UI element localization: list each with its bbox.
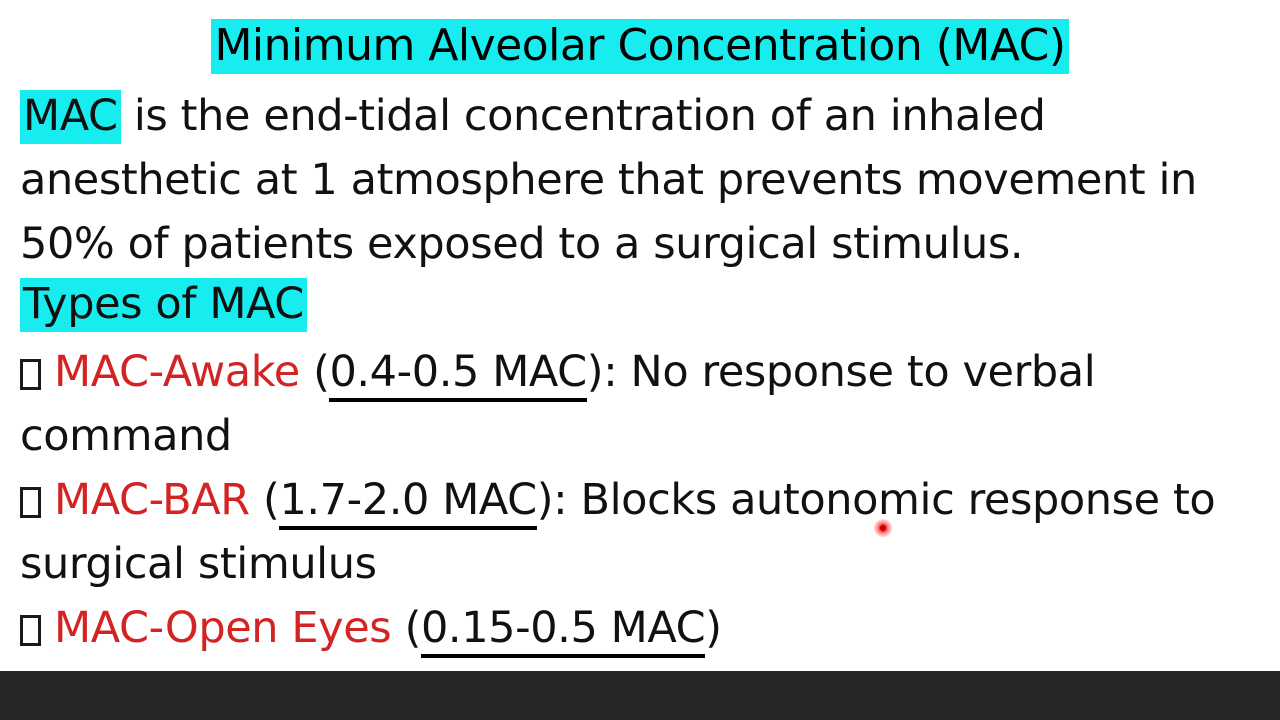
slide-content-area: Minimum Alveolar Concentration (MAC) MAC… [0, 0, 1280, 671]
list-item-name: MAC-BAR [54, 475, 250, 525]
list-item-close-paren: ) [705, 603, 721, 653]
list-item-open-paren: ( [263, 475, 279, 525]
list-item: MAC-Open Eyes (0.15-0.5 MAC) [20, 596, 1225, 660]
list-item-value: 0.4-0.5 MAC [329, 347, 586, 402]
list-item-name: MAC-Awake [54, 347, 300, 397]
definition-body: is the end-tidal concentration of an inh… [20, 91, 1197, 269]
definition-paragraph: MAC is the end-tidal concentration of an… [20, 84, 1225, 276]
bottom-letterbox-bar [0, 671, 1280, 720]
list-item-open-paren: ( [405, 603, 421, 653]
list-item-space [391, 603, 404, 653]
page-title: Minimum Alveolar Concentration (MAC) [0, 18, 1280, 74]
list-item-space [250, 475, 263, 525]
types-of-mac-heading: Types of MAC [20, 276, 307, 332]
list-item-open-paren: ( [313, 347, 329, 397]
list-item-close-paren: ) [537, 475, 553, 525]
slide-canvas: Minimum Alveolar Concentration (MAC) MAC… [0, 0, 1280, 720]
tofu-box-bullet-icon [20, 359, 41, 390]
page-title-text: Minimum Alveolar Concentration (MAC) [211, 19, 1068, 74]
list-item-space [300, 347, 313, 397]
list-item-value: 0.15-0.5 MAC [421, 603, 705, 658]
list-item-close-paren: ) [587, 347, 603, 397]
list-item: MAC-BAR (1.7-2.0 MAC): Blocks autonomic … [20, 468, 1225, 596]
list-item-separator: : [603, 347, 630, 397]
list-item-value: 1.7-2.0 MAC [279, 475, 536, 530]
list-item-separator: : [553, 475, 580, 525]
tofu-box-bullet-icon [20, 487, 41, 518]
list-item: MAC-Awake (0.4-0.5 MAC): No response to … [20, 340, 1225, 468]
list-item-name: MAC-Open Eyes [54, 603, 391, 653]
types-of-mac-heading-text: Types of MAC [20, 278, 307, 332]
definition-term: MAC [20, 90, 121, 144]
tofu-box-bullet-icon [20, 615, 41, 646]
